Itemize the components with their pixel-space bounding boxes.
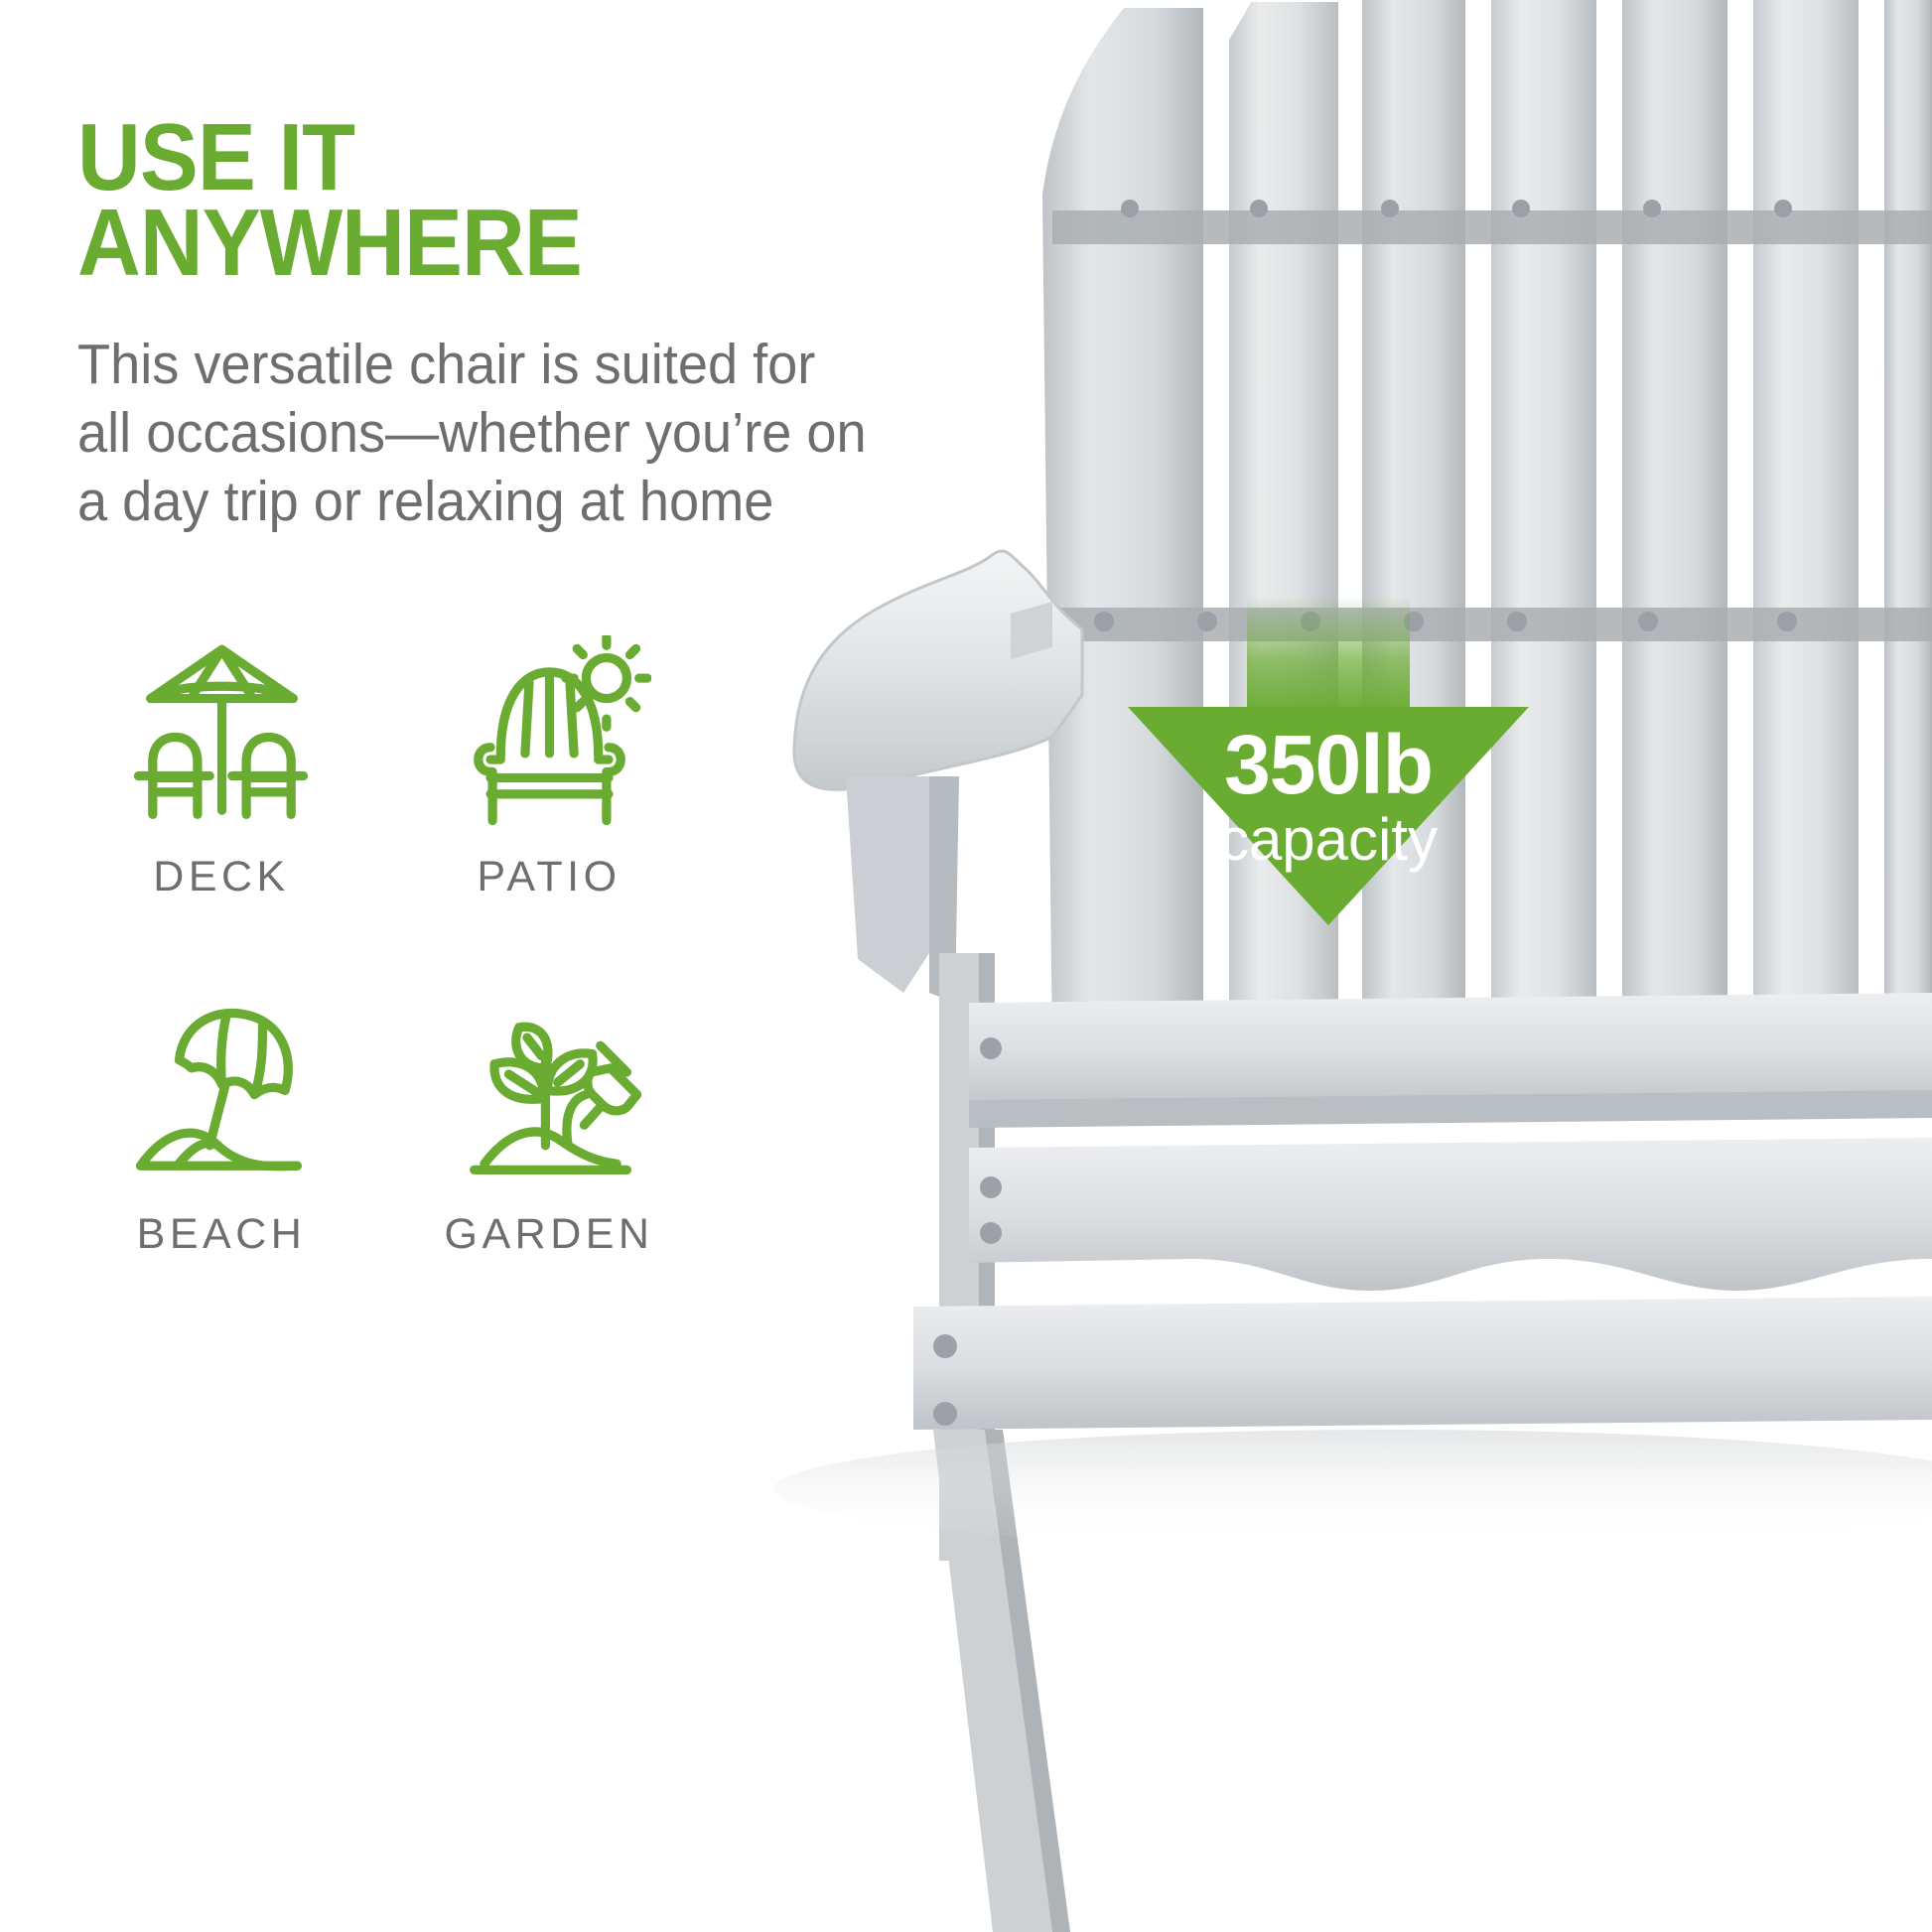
chair-lower-rail [1052,608,1932,641]
use-case-beach: BEACH [77,993,365,1291]
use-case-label-garden: GARDEN [445,1210,654,1259]
marketing-banner: 350lb capacity USE IT ANYWHERE This vers… [0,0,1932,1932]
chair-seat-slat-top [969,993,1932,1128]
umbrella-two-chairs-icon [120,635,324,839]
adirondack-chair-sun-icon [448,635,651,839]
use-case-deck: DECK [77,635,365,933]
chair-armrest [794,551,1082,789]
product-photo-adirondack-chair [755,0,1932,1932]
chair-front-rail [913,1297,1932,1430]
headline: USE IT ANYWHERE [77,115,882,286]
use-case-patio: PATIO [405,635,693,933]
use-case-icon-grid: DECK [77,635,693,1291]
use-case-garden: GARDEN [405,993,693,1291]
use-case-label-beach: BEACH [137,1210,307,1259]
chair-upper-rail [1052,210,1932,244]
plant-trowel-icon [448,993,651,1196]
use-case-label-deck: DECK [153,853,289,901]
chair-seat-slat-wavy [969,1138,1932,1291]
use-case-label-patio: PATIO [477,853,621,901]
beach-umbrella-dunes-icon [120,993,324,1196]
chair-back-slats [1042,0,1932,1052]
subcopy: This versatile chair is suited for all o… [77,331,926,536]
